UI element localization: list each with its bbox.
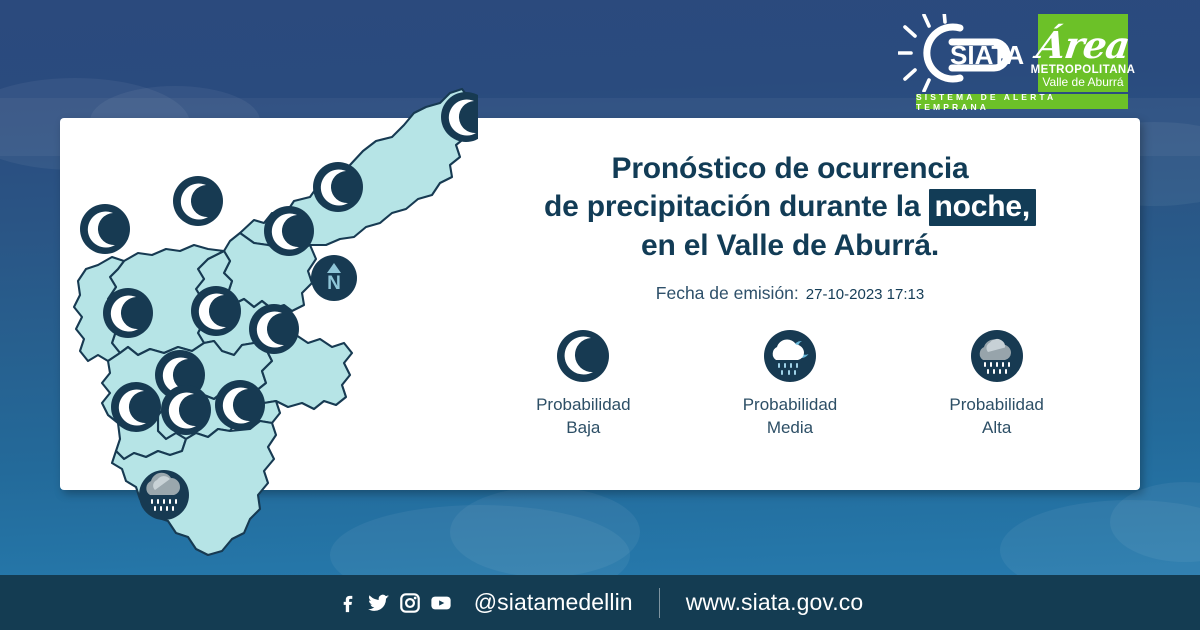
- footer-divider: [659, 588, 660, 618]
- legend-label-baja: Probabilidad Baja: [536, 394, 631, 440]
- legend-alta-line2: Alta: [949, 417, 1044, 440]
- legend-label-alta: Probabilidad Alta: [949, 394, 1044, 440]
- youtube-icon[interactable]: [430, 592, 452, 614]
- page-title: Pronóstico de ocurrencia de precipitació…: [470, 150, 1110, 265]
- legend-item-baja: Probabilidad Baja: [496, 330, 671, 440]
- website-url[interactable]: www.siata.gov.co: [686, 589, 864, 616]
- forecast-panel: Pronóstico de ocurrencia de precipitació…: [470, 150, 1110, 304]
- area-script-text: Área: [1035, 28, 1132, 63]
- siata-wordmark: SIATA: [950, 40, 1024, 70]
- legend-media-line2: Media: [743, 417, 838, 440]
- emission-date-label: Fecha de emisión:: [656, 283, 799, 304]
- cloud-heavy-rain-icon: [971, 330, 1023, 382]
- infographic-canvas: SIATA Área METROPOLITANA Valle de Aburrá…: [0, 0, 1200, 630]
- area-valle-text: Valle de Aburrá: [1042, 76, 1123, 89]
- legend-item-media: Probabilidad Media: [702, 330, 877, 440]
- facebook-icon[interactable]: [337, 592, 359, 614]
- legend-alta-line1: Probabilidad: [949, 394, 1044, 417]
- twitter-icon[interactable]: [368, 592, 390, 614]
- title-line-1: Pronóstico de ocurrencia: [470, 150, 1110, 188]
- emission-date-value: 27-10-2023 17:13: [806, 286, 924, 303]
- title-line-2-text: de precipitación durante la: [544, 190, 920, 223]
- header-logos: SIATA Área METROPOLITANA Valle de Aburrá: [898, 14, 1128, 92]
- bg-cloud-center-bottom-2: [450, 487, 640, 577]
- social-links[interactable]: [337, 592, 452, 614]
- social-handle[interactable]: @siatamedellin: [474, 589, 633, 616]
- instagram-icon[interactable]: [399, 592, 421, 614]
- area-metropolitana-logo: Área METROPOLITANA Valle de Aburrá: [1038, 14, 1128, 92]
- probability-legend: Probabilidad Baja Proba: [480, 330, 1100, 440]
- title-line-2: de precipitación durante la noche,: [470, 188, 1110, 226]
- siata-logo: SIATA: [898, 14, 1030, 92]
- legend-item-alta: Probabilidad Alta: [909, 330, 1084, 440]
- title-line-3: en el Valle de Aburrá.: [470, 227, 1110, 265]
- legend-label-media: Probabilidad Media: [743, 394, 838, 440]
- moon-icon: [557, 330, 609, 382]
- legend-baja-line1: Probabilidad: [536, 394, 631, 417]
- legend-baja-line2: Baja: [536, 417, 631, 440]
- bg-cloud-right-bottom-2: [1110, 482, 1200, 562]
- cloud-moon-rain-icon: [764, 330, 816, 382]
- title-highlight-noche: noche,: [929, 189, 1036, 226]
- footer-bar: @siatamedellin www.siata.gov.co: [0, 575, 1200, 630]
- tagline-bar: SISTEMA DE ALERTA TEMPRANA: [916, 94, 1128, 109]
- legend-media-line1: Probabilidad: [743, 394, 838, 417]
- emission-date: Fecha de emisión: 27-10-2023 17:13: [470, 283, 1110, 304]
- sun-rays-icon: [899, 14, 945, 91]
